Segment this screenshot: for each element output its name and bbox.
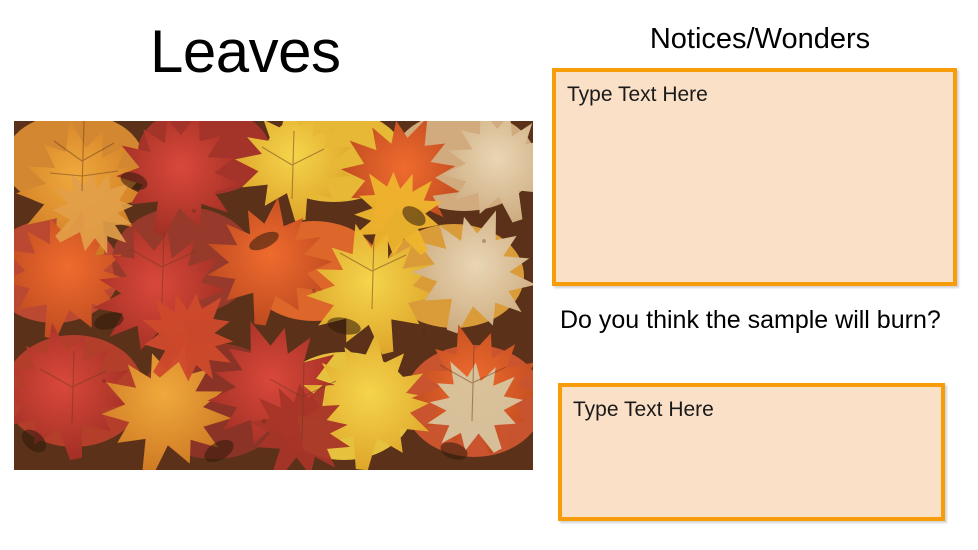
slide-canvas: Leaves (0, 0, 978, 550)
page-title: Leaves (150, 22, 530, 82)
notices-wonders-heading: Notices/Wonders (560, 25, 960, 54)
burn-answer-textbox[interactable]: Type Text Here (558, 383, 945, 521)
autumn-leaves-photo (14, 121, 533, 470)
burn-question-text: Do you think the sample will burn? (560, 303, 952, 339)
notices-wonders-textbox[interactable]: Type Text Here (552, 68, 957, 286)
notices-placeholder-text: Type Text Here (567, 82, 708, 108)
burn-placeholder-text: Type Text Here (573, 397, 714, 423)
